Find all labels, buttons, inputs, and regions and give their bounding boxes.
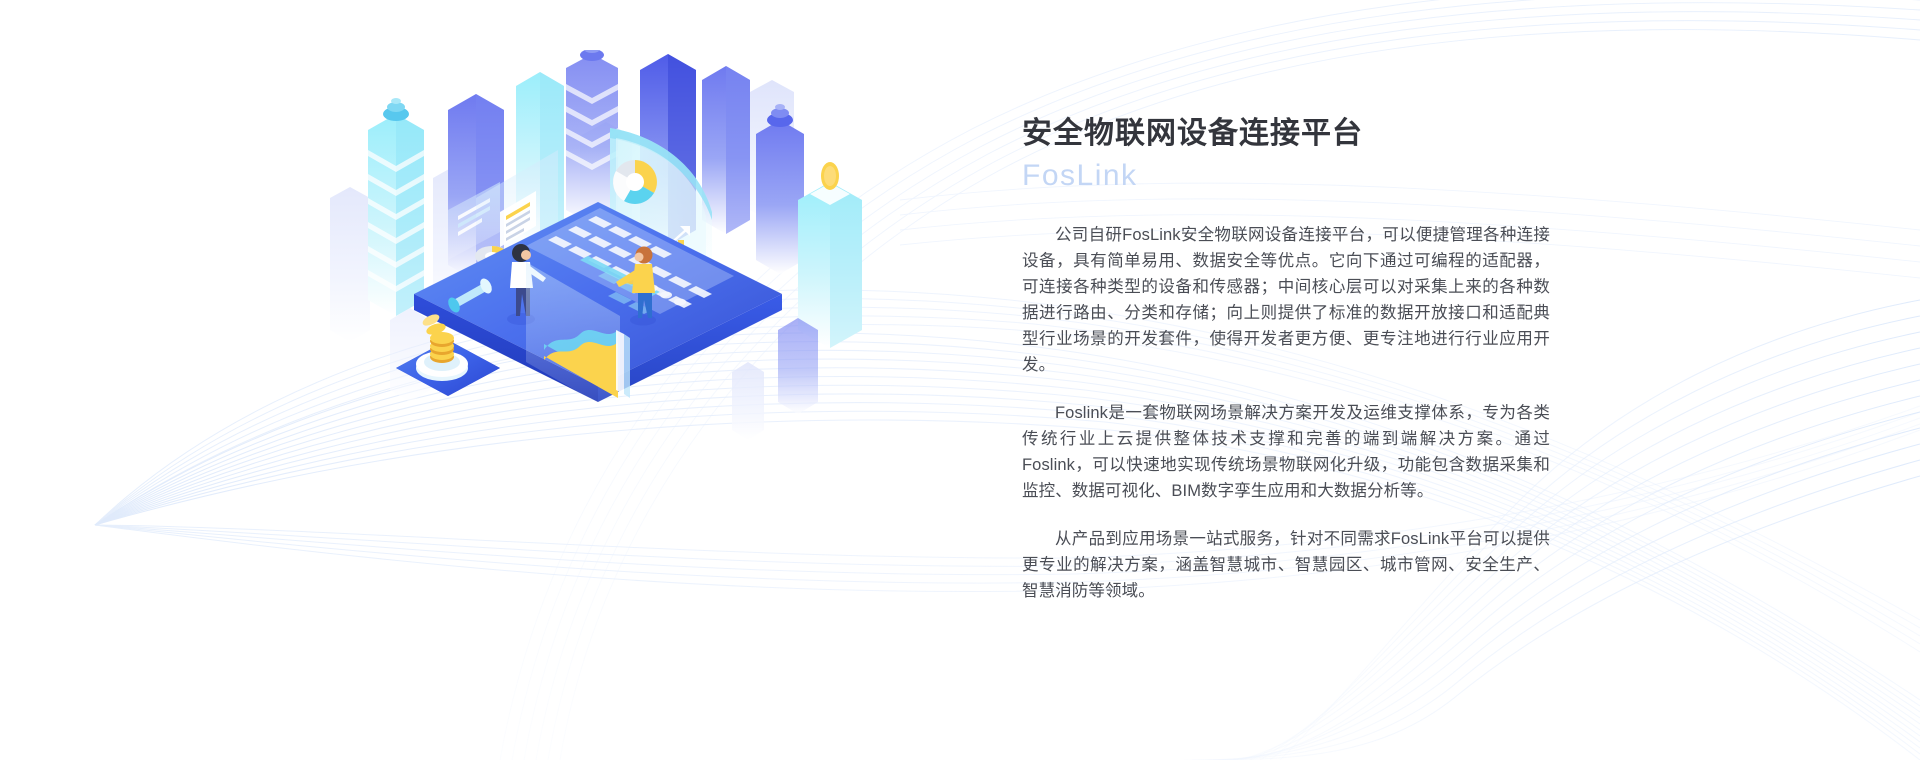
isometric-smart-city-illustration [330, 50, 930, 450]
paragraph-1: 公司自研FosLink安全物联网设备连接平台，可以便捷管理各种连接设备，具有简单… [1022, 222, 1550, 378]
background-wave-pattern [0, 0, 1920, 760]
paragraph-3: 从产品到应用场景一站式服务，针对不同需求FosLink平台可以提供更专业的解决方… [1022, 526, 1550, 604]
building-small-bottom-right [732, 318, 818, 440]
paragraph-2: Foslink是一套物联网场景解决方案开发及运维支撑体系，专为各类传统行业上云提… [1022, 400, 1550, 504]
screen-pie-chart [613, 160, 657, 204]
building-coin-pedestal [798, 162, 862, 348]
page-title: 安全物联网设备连接平台 [1022, 112, 1582, 156]
building-striped-cyan [368, 98, 424, 316]
page-subtitle: FosLink [1022, 156, 1582, 196]
description-paragraphs: 公司自研FosLink安全物联网设备连接平台，可以便捷管理各种连接设备，具有简单… [1022, 222, 1582, 604]
hero-page: 安全物联网设备连接平台 FosLink 公司自研FosLink安全物联网设备连接… [0, 0, 1920, 760]
hero-text-column: 安全物联网设备连接平台 FosLink 公司自研FosLink安全物联网设备连接… [1022, 112, 1582, 604]
